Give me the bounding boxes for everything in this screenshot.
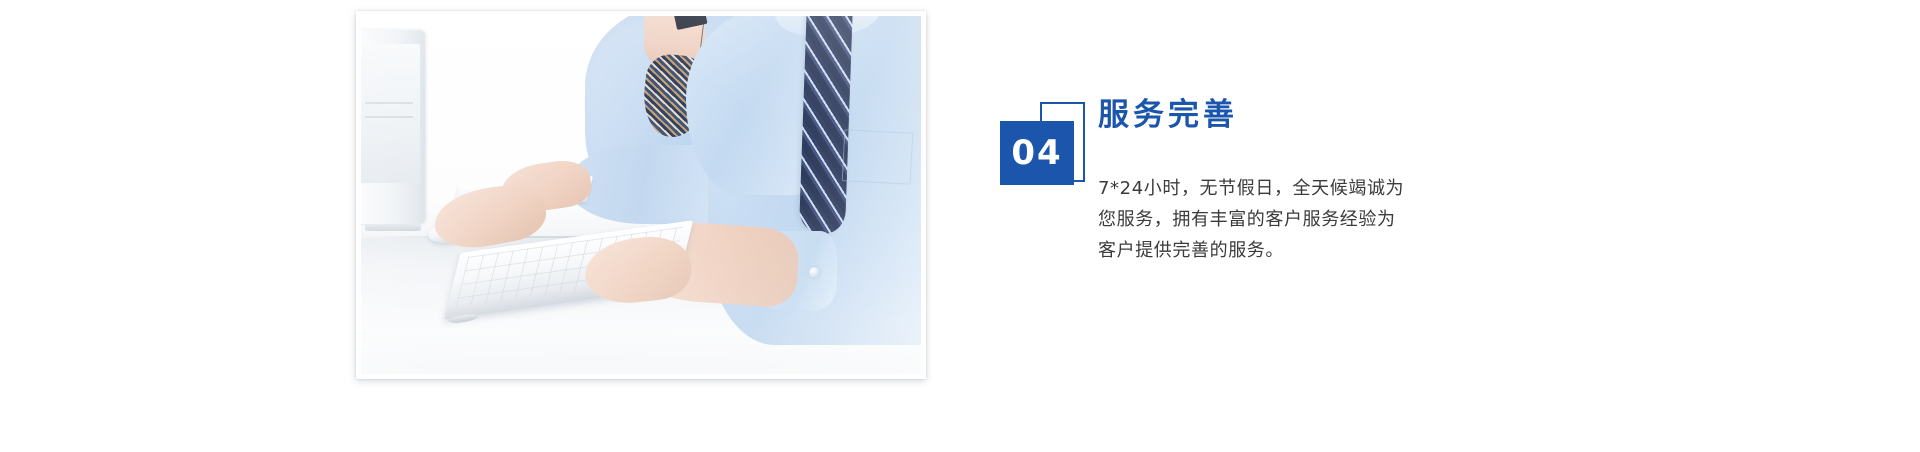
feature-photo: [361, 16, 921, 374]
striped-necktie: [799, 16, 853, 235]
shirt-pocket: [841, 129, 913, 185]
description-line-2: 您服务，拥有丰富的客户服务经验为: [1098, 204, 1518, 235]
monitor-screen-line: [365, 116, 413, 118]
badge-number: 04: [1000, 121, 1074, 185]
agent-front-shoulder: [686, 16, 820, 195]
section-description: 7*24小时，无节假日，全天候竭诚为 您服务，拥有丰富的客户服务经验为 客户提供…: [1098, 173, 1518, 266]
computer-monitor: [361, 30, 425, 223]
monitor-stand: [365, 224, 421, 231]
section-title: 服务完善: [1098, 96, 1238, 135]
cuff-button: [809, 267, 820, 278]
feature-content: 04 服务完善 7*24小时，无节假日，全天候竭诚为 您服务，拥有丰富的客户服务…: [1000, 96, 1700, 296]
page-root: 04 服务完善 7*24小时，无节假日，全天候竭诚为 您服务，拥有丰富的客户服务…: [0, 0, 1920, 452]
monitor-screen: [361, 44, 420, 183]
description-line-3: 客户提供完善的服务。: [1098, 235, 1518, 266]
monitor-screen-line: [365, 102, 413, 104]
feature-photo-frame: [356, 11, 926, 379]
description-line-1: 7*24小时，无节假日，全天候竭诚为: [1098, 173, 1518, 204]
section-number-badge: 04: [1000, 102, 1086, 190]
